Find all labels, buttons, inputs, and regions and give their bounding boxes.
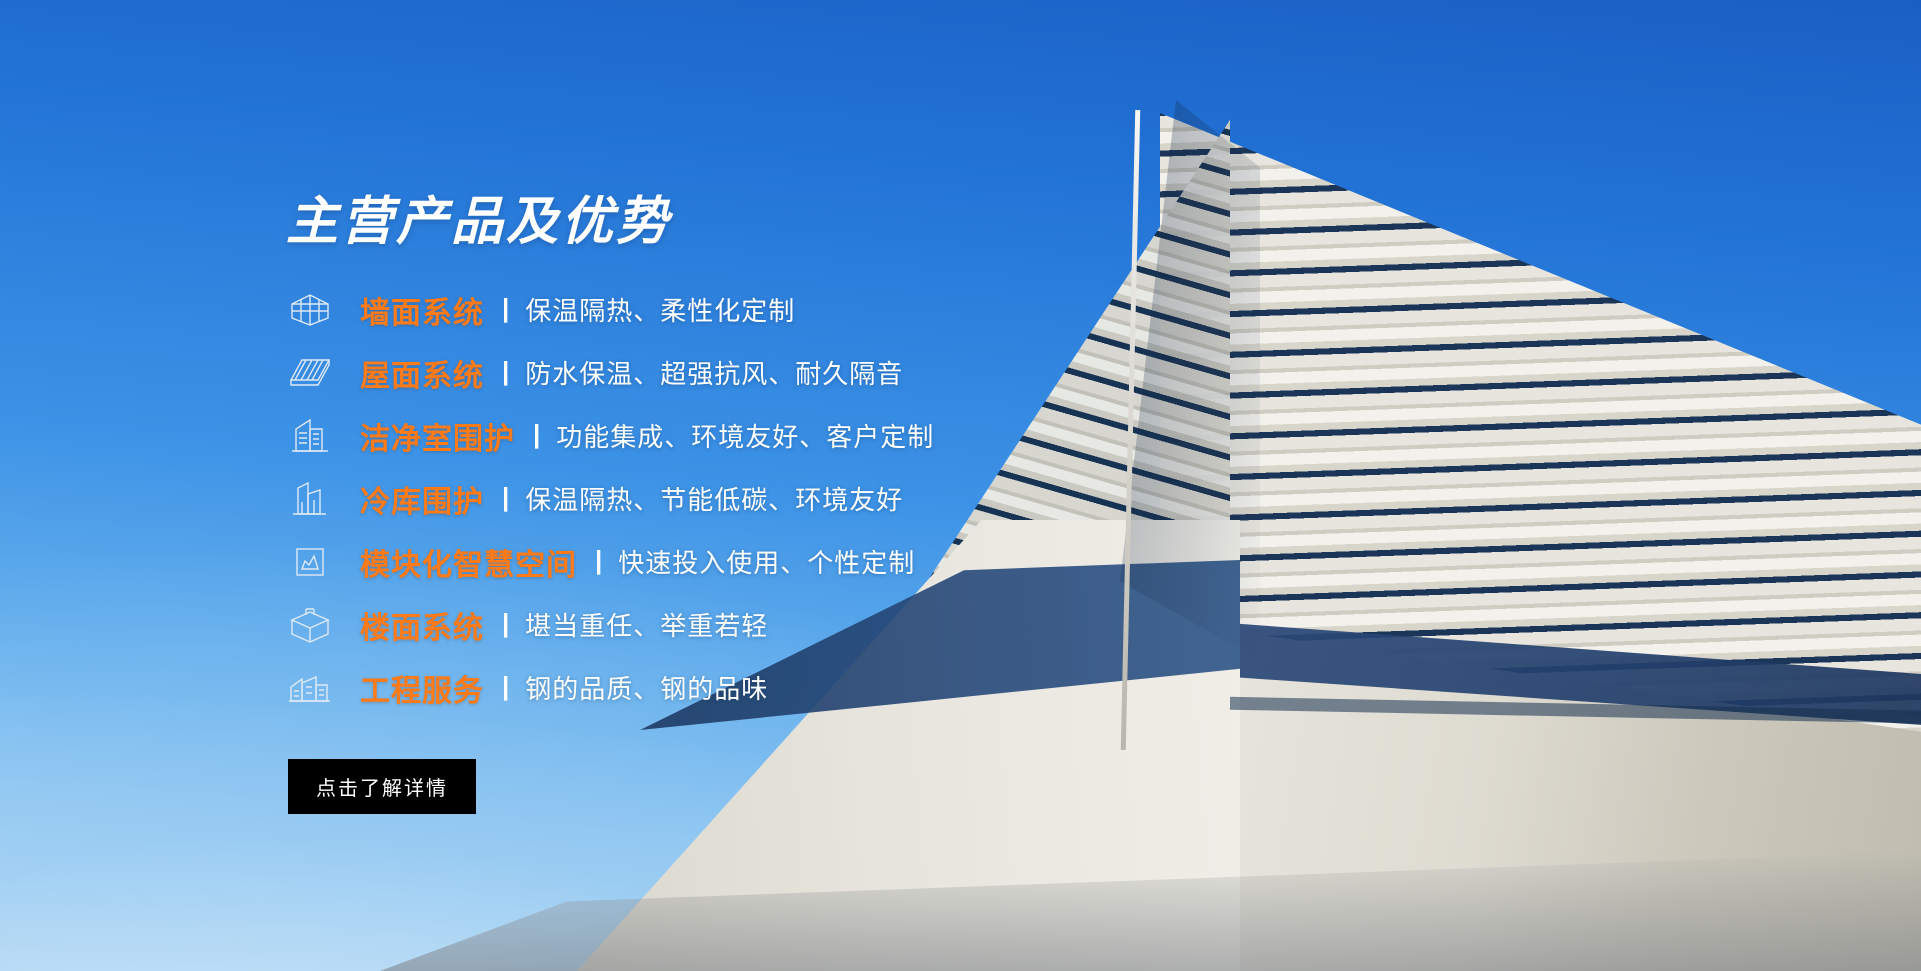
feature-separator: | xyxy=(502,356,509,387)
feature-row-wall-system[interactable]: 墙面系统 | 保温隔热、柔性化定制 xyxy=(286,278,1186,341)
feature-list: 墙面系统 | 保温隔热、柔性化定制 屋面系统 | 防水保温、超强抗风、耐久隔音 xyxy=(286,278,1186,719)
feature-separator: | xyxy=(502,293,509,324)
building-ground xyxy=(380,851,1921,971)
feature-description: 钢的品质、钢的品味 xyxy=(525,669,768,706)
hero-banner: 主营产品及优势 墙面系统 | 保温隔热、柔性化定制 xyxy=(0,0,1921,971)
feature-name: 洁净室围护 xyxy=(360,414,515,458)
feature-description: 防水保温、超强抗风、耐久隔音 xyxy=(525,354,903,391)
feature-name: 墙面系统 xyxy=(360,288,484,332)
feature-row-roof-system[interactable]: 屋面系统 | 防水保温、超强抗风、耐久隔音 xyxy=(286,341,1186,404)
feature-row-cleanroom[interactable]: 洁净室围护 | 功能集成、环境友好、客户定制 xyxy=(286,404,1186,467)
feature-description: 快速投入使用、个性定制 xyxy=(618,543,915,580)
feature-name: 屋面系统 xyxy=(360,351,484,395)
floor-deck-icon xyxy=(286,604,334,646)
building-right-blue-band xyxy=(1160,600,1921,780)
wall-panel-icon xyxy=(286,289,334,331)
page-title: 主营产品及优势 xyxy=(286,196,1186,248)
cold-storage-icon xyxy=(286,478,334,520)
modular-space-icon xyxy=(286,541,334,583)
feature-separator: | xyxy=(502,671,509,702)
building-right-facade xyxy=(1160,95,1921,971)
feature-name: 模块化智慧空间 xyxy=(360,540,577,584)
feature-row-cold-storage[interactable]: 冷库围护 | 保温隔热、节能低碳、环境友好 xyxy=(286,467,1186,530)
feature-separator: | xyxy=(502,608,509,639)
feature-row-engineering-service[interactable]: 工程服务 | 钢的品质、钢的品味 xyxy=(286,656,1186,719)
feature-row-modular-space[interactable]: 模块化智慧空间 | 快速投入使用、个性定制 xyxy=(286,530,1186,593)
feature-name: 工程服务 xyxy=(360,666,484,710)
feature-row-floor-system[interactable]: 楼面系统 | 堪当重任、举重若轻 xyxy=(286,593,1186,656)
building-right-lower-wall xyxy=(1160,560,1921,971)
feature-name: 楼面系统 xyxy=(360,603,484,647)
learn-more-button[interactable]: 点击了解详情 xyxy=(288,759,476,814)
feature-separator: | xyxy=(502,482,509,513)
hero-content: 主营产品及优势 墙面系统 | 保温隔热、柔性化定制 xyxy=(286,196,1186,814)
feature-description: 功能集成、环境友好、客户定制 xyxy=(556,417,934,454)
feature-description: 保温隔热、节能低碳、环境友好 xyxy=(525,480,903,517)
feature-name: 冷库围护 xyxy=(360,477,484,521)
feature-description: 保温隔热、柔性化定制 xyxy=(525,291,795,328)
roof-panel-icon xyxy=(286,352,334,394)
feature-separator: | xyxy=(595,545,602,576)
feature-description: 堪当重任、举重若轻 xyxy=(525,606,768,643)
building-right-dark-strip xyxy=(1230,690,1921,724)
engineering-service-icon xyxy=(286,667,334,709)
cleanroom-building-icon xyxy=(286,415,334,457)
feature-separator: | xyxy=(533,419,540,450)
